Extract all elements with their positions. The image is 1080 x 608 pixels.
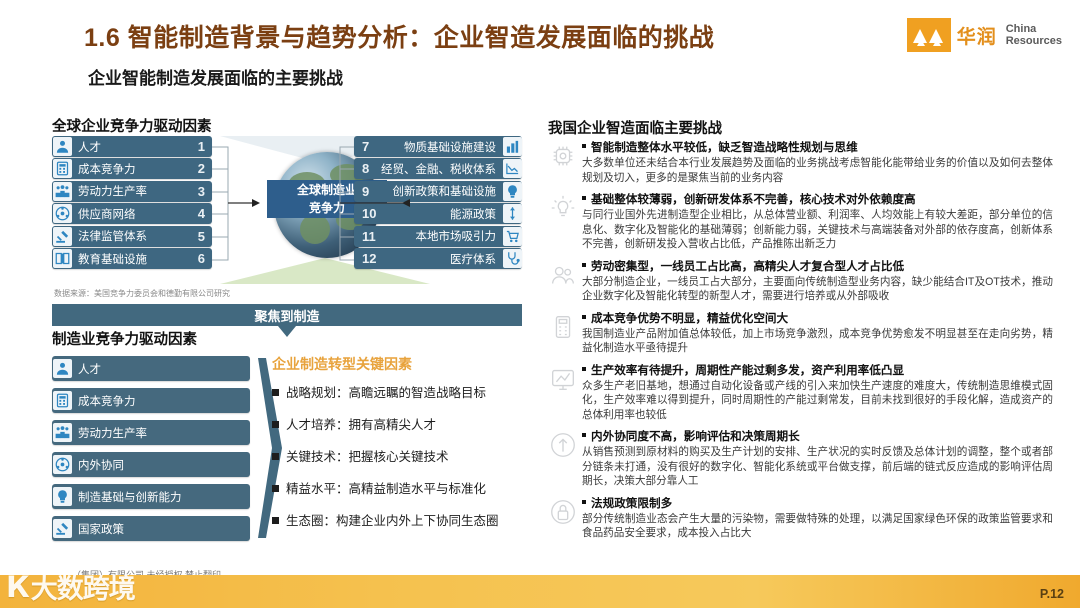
global-factor-bar-right-7[interactable]: 7物质基础设施建设	[354, 136, 522, 157]
challenge-text: 部分传统制造业态会产生大量的污染物，需要做特殊的处理，以满足国家绿色环保的政策监…	[582, 512, 1053, 541]
global-competitiveness-diagram: 全球制造业 竞争力 人才1成本竞争力2劳动力生产率3供应商网络4法律监管体系5教…	[52, 136, 522, 286]
people-group-icon	[53, 182, 72, 201]
global-factor-bar-left-5[interactable]: 法律监管体系5	[52, 226, 212, 247]
lock-icon	[548, 497, 578, 527]
person-icon	[53, 137, 72, 156]
calculator-icon	[53, 391, 72, 410]
global-factor-bar-left-2[interactable]: 成本竞争力2	[52, 158, 212, 179]
bulb-icon	[53, 487, 72, 506]
watermark-logo-icon: К	[6, 570, 29, 604]
challenges-heading: 我国企业智造面临主要挑战	[548, 117, 722, 138]
global-factor-number: 11	[354, 229, 376, 244]
global-factor-label: 经贸、金融、税收体系	[369, 161, 502, 177]
logo-english-text: China Resources	[1001, 23, 1062, 47]
network-icon	[53, 455, 72, 474]
person-icon	[53, 359, 72, 378]
manufacturing-factor-label: 内外协同	[72, 457, 250, 473]
key-factor-item-1: 战略规划：高瞻远瞩的智造战略目标	[272, 382, 486, 401]
bullet-square-icon	[582, 500, 586, 504]
bullet-square-icon	[272, 389, 279, 396]
bullet-square-icon	[582, 433, 586, 437]
key-factor-item-2: 人才培养：拥有高精尖人才	[272, 414, 436, 433]
manufacturing-factor-label: 国家政策	[72, 521, 250, 537]
challenge-text: 与同行业国外先进制造型企业相比，从总体营业额、利润率、人均效能上有较大差距，部分…	[582, 208, 1053, 252]
bulb-icon	[503, 182, 522, 201]
global-factor-bar-left-4[interactable]: 供应商网络4	[52, 203, 212, 224]
manufacturing-factor-bar-4[interactable]: 内外协同	[52, 452, 250, 477]
challenge-text: 大多数单位还未结合本行业发展趋势及面临的业务挑战考虑智能化能带给业务的价值以及如…	[582, 156, 1053, 185]
footer-bar	[0, 575, 1080, 608]
global-factor-number: 9	[354, 184, 369, 199]
manufacturing-factor-label: 劳动力生产率	[72, 425, 250, 441]
challenge-title: 生产效率有待提升，周期性产能过剩多发，资产利用率低凸显	[582, 363, 1053, 378]
chart-down-icon	[503, 159, 522, 178]
challenge-item-2: 基础整体较薄弱，创新研发体系不完善，核心技术对外依赖度高与同行业国外先进制造型企…	[548, 192, 1053, 252]
bullet-square-icon	[582, 144, 586, 148]
global-factor-label: 教育基础设施	[72, 251, 198, 267]
challenge-item-1: 智能制造整体水平较低，缺乏智造战略性规划与思维大多数单位还未结合本行业发展趋势及…	[548, 140, 1053, 185]
challenge-text: 从销售预测到原材料的购买及生产计划的安排、生产状况的实时反馈及总体计划的调整，整…	[582, 445, 1053, 489]
challenge-title: 成本竞争优势不明显，精益优化空间大	[582, 311, 1053, 326]
focus-banner: 聚焦到制造	[52, 304, 522, 326]
challenge-text: 大部分制造企业，一线员工占大部分，主要面向传统制造型业务内容，缺少能结合IT及O…	[582, 275, 1053, 304]
global-factor-bar-right-8[interactable]: 8经贸、金融、税收体系	[354, 158, 522, 179]
mountain-logo-icon	[907, 18, 951, 52]
challenge-item-3: 劳动密集型，一线员工占比高，高精尖人才复合型人才占比低大部分制造企业，一线员工占…	[548, 259, 1053, 304]
manufacturing-factor-bar-2[interactable]: 成本竞争力	[52, 388, 250, 413]
key-factors-heading: 企业制造转型关键因素	[272, 354, 412, 374]
challenge-title: 基础整体较薄弱，创新研发体系不完善，核心技术对外依赖度高	[582, 192, 1053, 207]
global-factor-bar-right-10[interactable]: 10能源政策	[354, 203, 522, 224]
challenge-title: 劳动密集型，一线员工占比高，高精尖人才复合型人才占比低	[582, 259, 1053, 274]
global-factor-bar-left-3[interactable]: 劳动力生产率3	[52, 181, 212, 202]
global-factor-label: 能源政策	[376, 206, 502, 222]
global-factor-number: 3	[198, 184, 212, 199]
bullet-square-icon	[272, 421, 279, 428]
key-factor-label: 关键技术：把握核心关键技术	[286, 450, 449, 464]
global-factor-bar-right-11[interactable]: 11本地市场吸引力	[354, 226, 522, 247]
global-factor-label: 创新政策和基础设施	[369, 183, 502, 199]
challenge-item-7: 法规政策限制多部分传统制造业态会产生大量的污染物，需要做特殊的处理，以满足国家绿…	[548, 496, 1053, 541]
global-factor-number: 4	[198, 206, 212, 221]
key-factor-label: 精益水平：高精益制造水平与标准化	[286, 482, 486, 496]
china-resources-logo: 华润 China Resources	[907, 18, 1062, 52]
global-factor-number: 12	[354, 251, 376, 266]
global-factor-bar-right-9[interactable]: 9创新政策和基础设施	[354, 181, 522, 202]
manufacturing-factor-bar-1[interactable]: 人才	[52, 356, 250, 381]
page-subtitle: 企业智能制造发展面临的主要挑战	[88, 64, 343, 89]
arrow-circle-icon	[548, 430, 578, 460]
building-icon	[503, 137, 522, 156]
global-factor-label: 法律监管体系	[72, 228, 198, 244]
bullet-square-icon	[582, 315, 586, 319]
data-source-note: 数据来源：美国竞争力委员会和德勤有限公司研究	[54, 288, 230, 299]
focus-arrow-icon	[278, 326, 296, 337]
gavel-icon	[53, 227, 72, 246]
global-factor-label: 劳动力生产率	[72, 183, 198, 199]
manufacturing-factor-bar-3[interactable]: 劳动力生产率	[52, 420, 250, 445]
stethoscope-icon	[503, 249, 522, 268]
challenge-text: 我国制造业产品附加值总体较低，加上市场竞争激烈，成本竞争优势愈发不明显甚至在走向…	[582, 327, 1053, 356]
network-icon	[53, 204, 72, 223]
calculator-icon	[548, 312, 578, 342]
energy-icon	[503, 204, 522, 223]
challenge-item-4: 成本竞争优势不明显，精益优化空间大我国制造业产品附加值总体较低，加上市场竞争激烈…	[548, 311, 1053, 356]
slide-root: 1.6 智能制造背景与趋势分析：企业智造发展面临的挑战 企业智能制造发展面临的主…	[0, 0, 1080, 608]
key-factor-item-4: 精益水平：高精益制造水平与标准化	[272, 478, 486, 497]
page-number: P.12	[1040, 587, 1064, 601]
challenge-text: 众多生产老旧基地，想通过自动化设备或产线的引入来加快生产速度的难度大，传统制造思…	[582, 379, 1053, 423]
global-factor-bar-left-6[interactable]: 教育基础设施6	[52, 248, 212, 269]
global-factor-number: 8	[354, 161, 369, 176]
manufacturing-factors-list: 人才成本竞争力劳动力生产率内外协同制造基础与创新能力国家政策	[52, 356, 252, 548]
global-factor-number: 5	[198, 229, 212, 244]
challenge-body: 劳动密集型，一线员工占比高，高精尖人才复合型人才占比低大部分制造企业，一线员工占…	[582, 259, 1053, 304]
global-factor-label: 物质基础设施建设	[369, 139, 502, 155]
bullet-square-icon	[272, 485, 279, 492]
key-factor-item-5: 生态圈：构建企业内外上下协同生态圈	[272, 510, 499, 529]
watermark-text: 大数跨境	[31, 567, 135, 606]
manufacturing-factor-label: 成本竞争力	[72, 393, 250, 409]
people-group-icon	[53, 423, 72, 442]
global-factor-number: 6	[198, 251, 212, 266]
book-icon	[53, 249, 72, 268]
challenge-body: 智能制造整体水平较低，缺乏智造战略性规划与思维大多数单位还未结合本行业发展趋势及…	[582, 140, 1053, 185]
key-factor-label: 生态圈：构建企业内外上下协同生态圈	[286, 514, 499, 528]
manufacturing-factor-label: 制造基础与创新能力	[72, 489, 250, 505]
key-factor-item-3: 关键技术：把握核心关键技术	[272, 446, 449, 465]
global-factor-label: 供应商网络	[72, 206, 198, 222]
global-factor-number: 7	[354, 139, 369, 154]
global-factor-label: 人才	[72, 139, 198, 155]
bullet-square-icon	[582, 263, 586, 267]
challenge-title: 智能制造整体水平较低，缺乏智造战略性规划与思维	[582, 140, 1053, 155]
key-factor-label: 战略规划：高瞻远瞩的智造战略目标	[286, 386, 486, 400]
bullet-square-icon	[582, 367, 586, 371]
global-factor-label: 本地市场吸引力	[376, 228, 502, 244]
global-factor-number: 2	[198, 161, 212, 176]
manufacturing-factor-label: 人才	[72, 361, 250, 377]
challenge-title: 内外协同度不高，影响评估和决策周期长	[582, 429, 1053, 444]
bullet-square-icon	[272, 517, 279, 524]
manufacturing-factors-heading: 制造业竞争力驱动因素	[52, 328, 197, 349]
challenge-item-5: 生产效率有待提升，周期性产能过剩多发，资产利用率低凸显众多生产老旧基地，想通过自…	[548, 363, 1053, 423]
global-factor-bar-left-1[interactable]: 人才1	[52, 136, 212, 157]
challenge-body: 内外协同度不高，影响评估和决策周期长从销售预测到原材料的购买及生产计划的安排、生…	[582, 429, 1053, 489]
challenge-body: 成本竞争优势不明显，精益优化空间大我国制造业产品附加值总体较低，加上市场竞争激烈…	[582, 311, 1053, 356]
global-factor-number: 10	[354, 206, 376, 221]
monitor-chart-icon	[548, 364, 578, 394]
bulb-idea-icon	[548, 193, 578, 223]
cart-icon	[503, 227, 522, 246]
challenge-body: 基础整体较薄弱，创新研发体系不完善，核心技术对外依赖度高与同行业国外先进制造型企…	[582, 192, 1053, 252]
manufacturing-factor-bar-6[interactable]: 国家政策	[52, 516, 250, 541]
chip-icon	[548, 141, 578, 171]
gavel-icon	[53, 519, 72, 538]
challenges-list: 智能制造整体水平较低，缺乏智造战略性规划与思维大多数单位还未结合本行业发展趋势及…	[548, 140, 1053, 548]
global-factor-label: 成本竞争力	[72, 161, 198, 177]
key-factor-label: 人才培养：拥有高精尖人才	[286, 418, 436, 432]
manufacturing-factor-bar-5[interactable]: 制造基础与创新能力	[52, 484, 250, 509]
challenge-title: 法规政策限制多	[582, 496, 1053, 511]
bullet-square-icon	[582, 196, 586, 200]
global-factor-label: 医疗体系	[376, 251, 502, 267]
logo-chinese-text: 华润	[957, 22, 997, 49]
challenge-body: 生产效率有待提升，周期性产能过剩多发，资产利用率低凸显众多生产老旧基地，想通过自…	[582, 363, 1053, 423]
global-factor-bar-right-12[interactable]: 12医疗体系	[354, 248, 522, 269]
global-factors-heading: 全球企业竞争力驱动因素	[52, 115, 212, 136]
page-title: 1.6 智能制造背景与趋势分析：企业智造发展面临的挑战	[84, 18, 884, 54]
bullet-square-icon	[272, 453, 279, 460]
challenge-body: 法规政策限制多部分传统制造业态会产生大量的污染物，需要做特殊的处理，以满足国家绿…	[582, 496, 1053, 541]
people-icon	[548, 260, 578, 290]
calculator-icon	[53, 159, 72, 178]
challenge-item-6: 内外协同度不高，影响评估和决策周期长从销售预测到原材料的购买及生产计划的安排、生…	[548, 429, 1053, 489]
watermark: К 大数跨境	[6, 567, 135, 606]
global-factor-number: 1	[198, 139, 212, 154]
